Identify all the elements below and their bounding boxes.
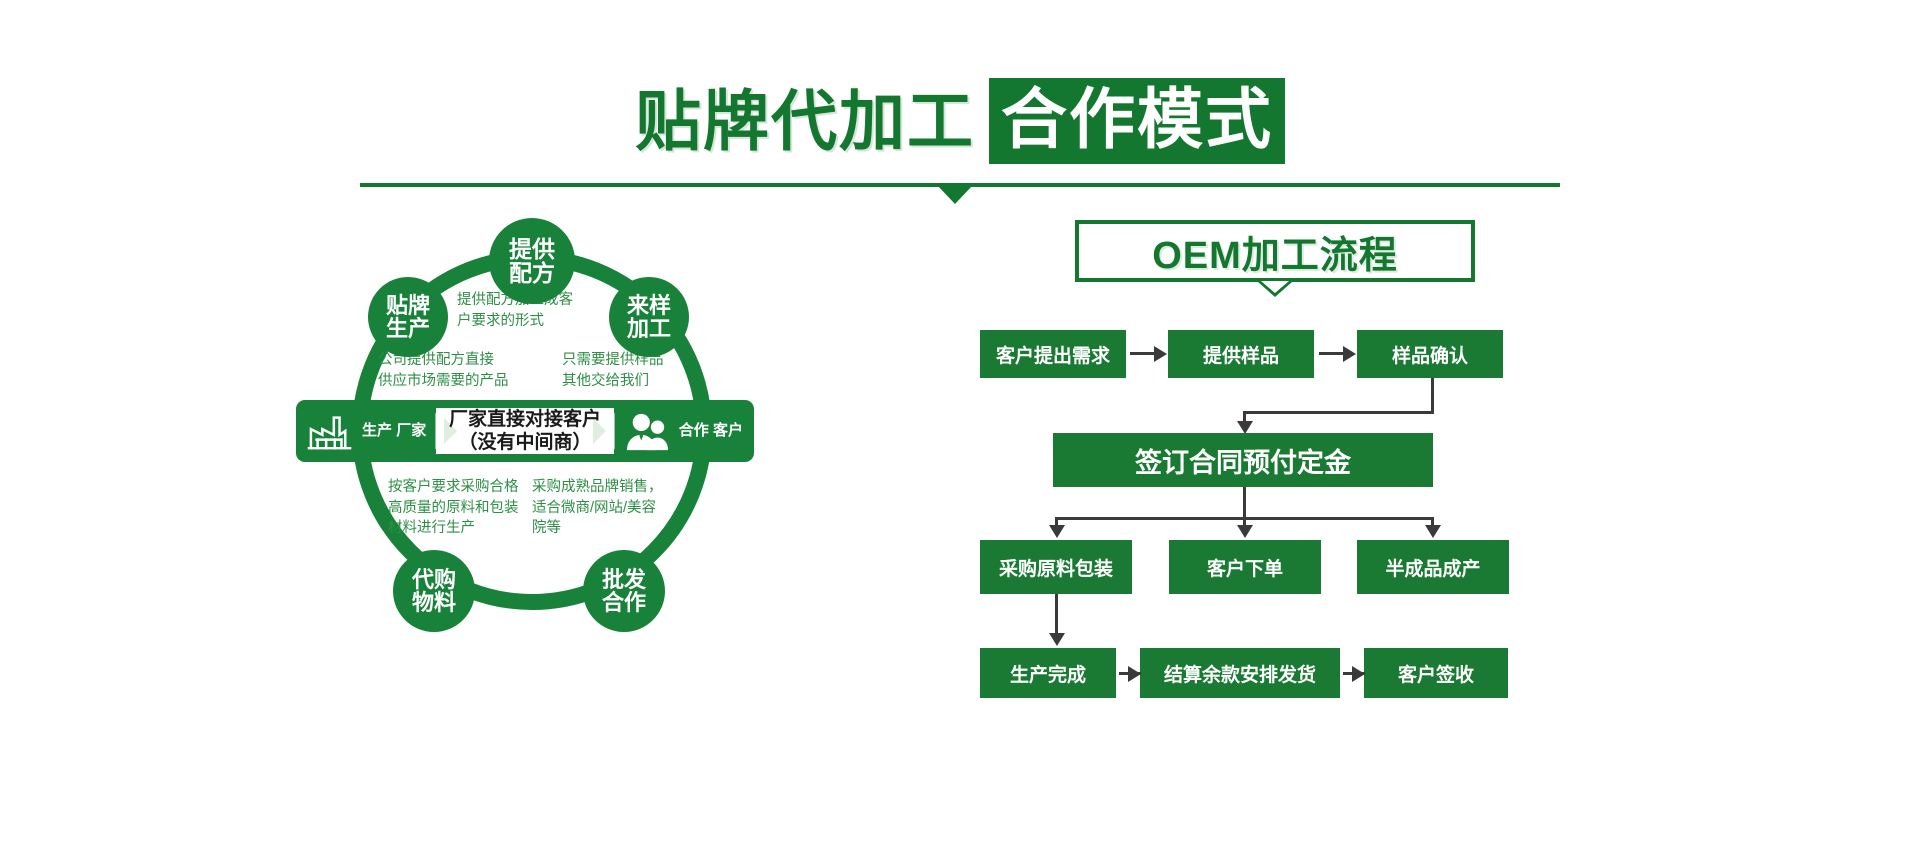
circle-node-oem-production[interactable]: 贴牌 生产 (368, 277, 448, 357)
center-bar-left-line1: 生产 (362, 422, 392, 439)
center-bar: 生产 厂家 厂家直接对接客户 （没有中间商） (296, 400, 754, 462)
page-title-plain: 贴牌代加工 (635, 88, 975, 154)
arrowhead-r1-a-b-icon (1154, 346, 1167, 362)
center-bar-left: 生产 厂家 (296, 410, 436, 452)
center-bar-middle: 厂家直接对接客户 （没有中间商） (436, 408, 614, 454)
center-bar-right-line2: 客户 (713, 422, 743, 439)
circle-desc-material-purchase: 按客户要求采购合格 高质量的原料和包装 材料进行生产 (388, 477, 548, 539)
connector-r1-a-b (1130, 352, 1155, 355)
connector-r1c-across (1243, 411, 1434, 414)
node-label-line1: 代购 (412, 568, 456, 591)
center-bar-left-line2: 厂家 (396, 422, 426, 439)
oem-badge-notch-inner-icon (1261, 281, 1289, 293)
circle-diagram: 提供 配方 贴牌 生产 来样 加工 代购 物料 批发 合作 提供配方加工成客 户… (290, 205, 810, 655)
connector-r2-down (1243, 487, 1246, 519)
connector-r1-b-c (1319, 352, 1344, 355)
arrowhead-r4-b-c-icon (1352, 666, 1365, 682)
node-label-line2: 物料 (412, 591, 456, 614)
node-label-line1: 提供 (509, 237, 555, 261)
arrowhead-branch-mid-icon (1237, 525, 1253, 538)
circle-node-sample-processing[interactable]: 来样 加工 (609, 277, 689, 357)
arrowhead-r3a-down-icon (1049, 633, 1065, 646)
circle-node-provide-formula[interactable]: 提供 配方 (489, 218, 575, 304)
page-title: 贴牌代加工 合作模式 (0, 78, 1920, 164)
connector-r1c-down (1431, 378, 1434, 413)
oem-heading-text: OEM加工流程 (1152, 224, 1398, 279)
node-label-line2: 合作 (602, 591, 646, 614)
divider-chevron-icon (937, 185, 973, 204)
node-label-line1: 贴牌 (386, 294, 430, 317)
arrowhead-r1-b-c-icon (1343, 346, 1356, 362)
center-bar-right-line1: 合作 (679, 422, 709, 439)
flow-box-sample-confirm[interactable]: 样品确认 (1357, 330, 1503, 378)
factory-icon (307, 410, 353, 452)
center-bar-left-label: 生产 厂家 (362, 423, 426, 440)
connector-r3a-down (1055, 594, 1058, 636)
flow-box-customer-request[interactable]: 客户提出需求 (980, 330, 1126, 378)
flow-box-purchase-materials[interactable]: 采购原料包装 (980, 540, 1132, 594)
circle-desc-wholesale: 采购成熟品牌销售， 适合微商/网站/美容 院等 (532, 477, 692, 539)
node-label-line1: 批发 (602, 568, 646, 591)
page-title-boxed: 合作模式 (989, 78, 1285, 164)
arrowhead-r4-a-b-icon (1128, 666, 1141, 682)
flow-box-customer-order[interactable]: 客户下单 (1169, 540, 1321, 594)
flow-box-production-complete[interactable]: 生产完成 (980, 648, 1116, 698)
circle-node-material-purchase[interactable]: 代购 物料 (393, 550, 475, 632)
arrowhead-branch-left-icon (1049, 525, 1065, 538)
flow-box-settle-and-ship[interactable]: 结算余款安排发货 (1140, 648, 1340, 698)
center-bar-middle-text: 厂家直接对接客户 （没有中间商） (449, 408, 601, 454)
flow-box-customer-receipt[interactable]: 客户签收 (1364, 648, 1508, 698)
node-label-line2: 加工 (627, 317, 671, 340)
node-label-line1: 来样 (627, 294, 671, 317)
flow-box-provide-sample[interactable]: 提供样品 (1168, 330, 1314, 378)
node-label-line2: 生产 (386, 317, 430, 340)
flow-box-sign-contract-deposit[interactable]: 签订合同预付定金 (1053, 433, 1433, 487)
infographic-root: 贴牌代加工 合作模式 提供 配方 贴牌 生产 来样 加工 代购 物料 批发 合作… (0, 0, 1920, 857)
center-bar-middle-line2: （没有中间商） (458, 432, 591, 453)
center-bar-right-rule (614, 413, 615, 449)
people-icon (624, 410, 670, 452)
node-label-line2: 配方 (509, 261, 555, 285)
oem-flowchart: OEM加工流程 客户提出需求 提供样品 样品确认 签订合同预付定金 采购原料包装… (980, 205, 1580, 655)
center-bar-middle-line1: 厂家直接对接客户 (449, 409, 601, 430)
oem-heading-badge: OEM加工流程 (1075, 220, 1475, 282)
flow-box-semi-finished[interactable]: 半成品成产 (1357, 540, 1509, 594)
center-bar-right-label: 合作 客户 (679, 423, 743, 440)
arrowhead-branch-right-icon (1425, 525, 1441, 538)
circle-node-wholesale-cooperation[interactable]: 批发 合作 (583, 550, 665, 632)
center-bar-right: 合作 客户 (614, 410, 754, 452)
